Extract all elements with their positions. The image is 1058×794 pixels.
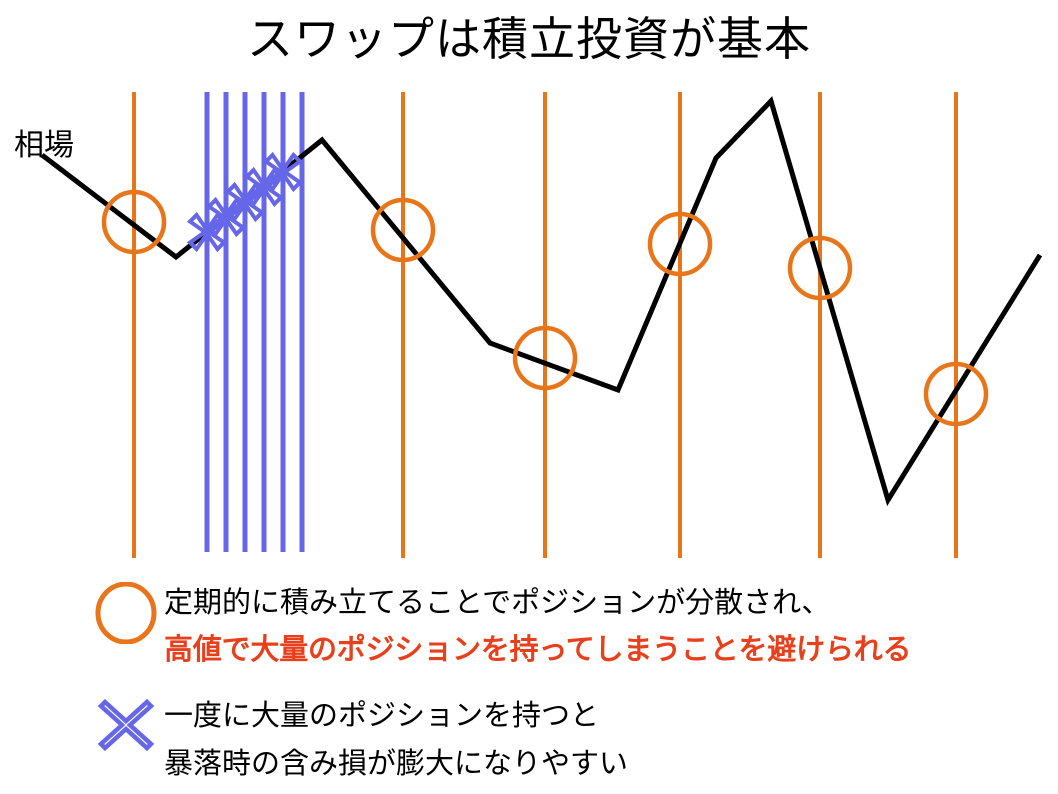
market-line-label: 相場 [14,128,74,164]
legend-line-accent: 高値で大量のポジションを持ってしまうことを避けられる [164,627,911,674]
market-price-line [42,101,1040,500]
slide-canvas: スワップは積立投資が基本 相場 定期的に積み立てることでポジションが分散され、 … [0,0,1058,794]
buy-timing-lines-group [134,92,956,558]
legend-text-group: 一度に大量のポジションを持つと 暴落時の含み損が膨大になりやすい [164,690,628,788]
legend-item-regular-buy: 定期的に積み立てることでポジションが分散され、 高値で大量のポジションを持ってし… [88,578,911,674]
market-chart [0,0,1058,580]
legend-line: 暴落時の含み損が膨大になりやすい [164,740,628,788]
circle-icon [88,578,164,644]
legend-text-group: 定期的に積み立てることでポジションが分散され、 高値で大量のポジションを持ってし… [164,578,911,674]
legend-line: 一度に大量のポジションを持つと [164,692,628,740]
legend-line: 定期的に積み立てることでポジションが分散され、 [164,580,911,627]
cross-icon [88,690,164,756]
legend-item-lump-sum: 一度に大量のポジションを持つと 暴落時の含み損が膨大になりやすい [88,690,628,788]
